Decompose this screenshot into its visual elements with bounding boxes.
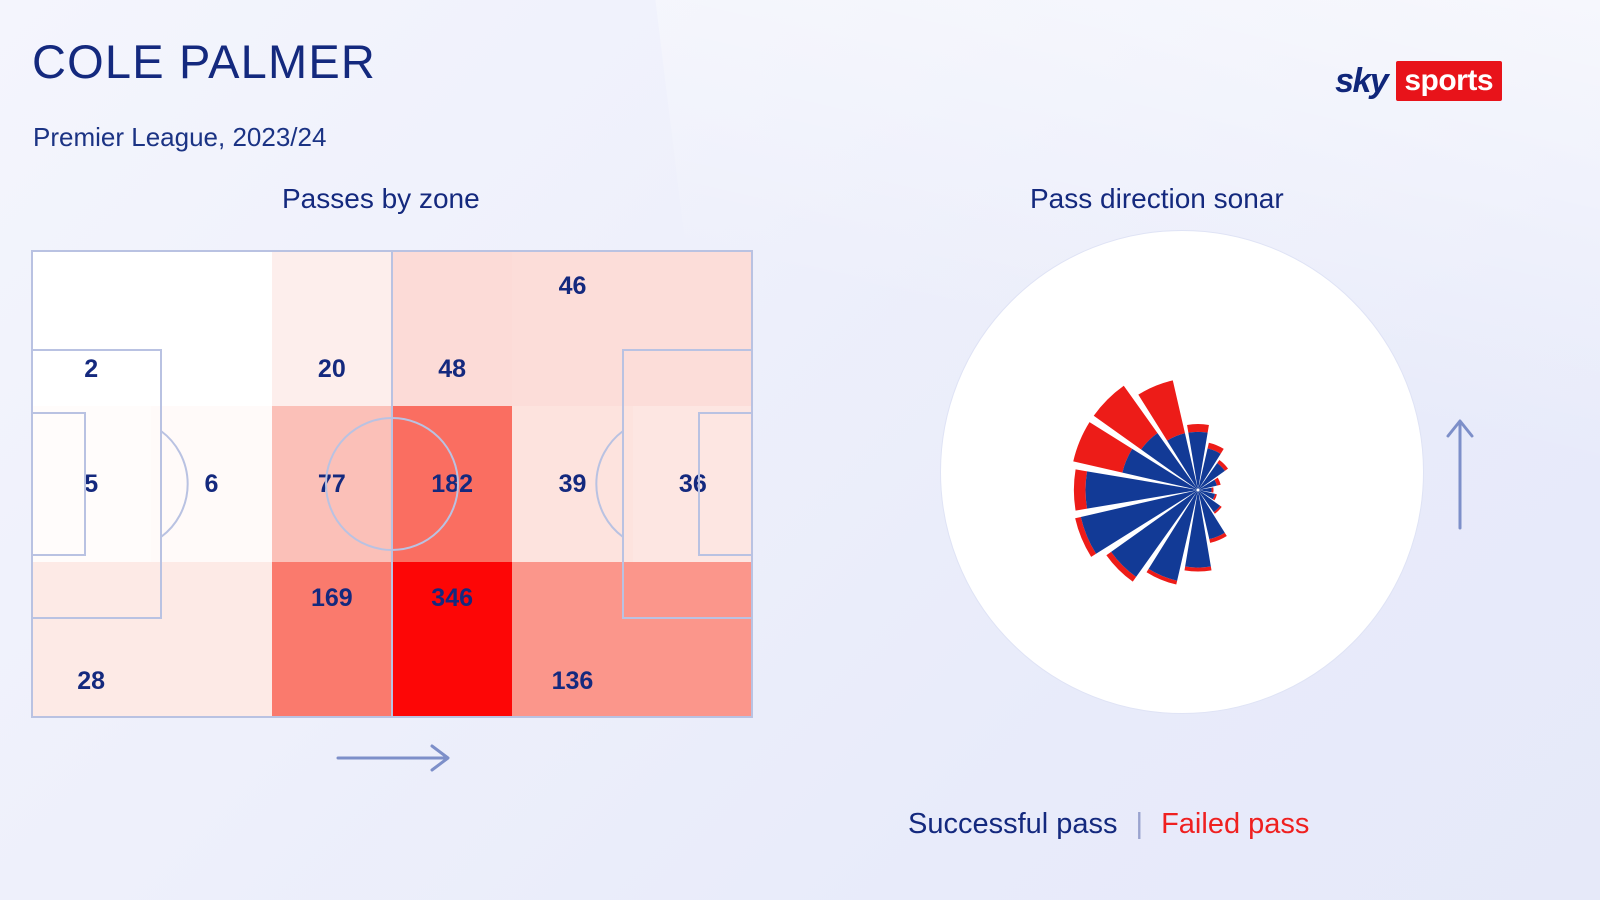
pass-direction-sonar	[940, 230, 1424, 714]
zone-value: 77	[318, 470, 346, 499]
zone-cell	[151, 250, 271, 406]
zone-cell: 39	[512, 406, 632, 562]
passes-by-zone-heatmap: 22048465677182393628169346136	[31, 250, 753, 718]
page-title: COLE PALMER	[32, 38, 376, 85]
zone-cell: 136	[512, 562, 632, 718]
zone-cell	[151, 562, 271, 718]
sonar-sector-failed	[1187, 424, 1209, 433]
sky-sports-logo: sky sports	[1335, 61, 1502, 101]
pass-direction-sonar-title: Pass direction sonar	[1030, 183, 1284, 215]
zone-value: 28	[77, 667, 105, 696]
zone-cell	[633, 250, 753, 406]
zone-value: 5	[84, 470, 98, 499]
zone-cell: 46	[512, 250, 632, 406]
zone-cell: 77	[272, 406, 392, 562]
zone-value: 48	[438, 355, 466, 384]
zone-value: 136	[552, 667, 594, 696]
page-subtitle: Premier League, 2023/24	[33, 122, 326, 153]
legend-failed-pass: Failed pass	[1161, 808, 1309, 841]
zone-cell: 2	[31, 250, 151, 406]
zone-cell: 48	[392, 250, 512, 406]
sports-badge: sports	[1396, 61, 1502, 101]
zone-grid: 22048465677182393628169346136	[31, 250, 753, 718]
zone-cell: 36	[633, 406, 753, 562]
zone-value: 2	[84, 355, 98, 384]
zone-value: 182	[431, 470, 473, 499]
sonar-legend: Successful pass | Failed pass	[908, 808, 1309, 841]
zone-cell: 5	[31, 406, 151, 562]
zone-cell: 28	[31, 562, 151, 718]
sonar-forward-arrow-icon	[1443, 418, 1477, 530]
zone-value: 20	[318, 355, 346, 384]
zone-value: 346	[431, 584, 473, 613]
legend-separator: |	[1136, 808, 1144, 841]
zone-cell: 6	[151, 406, 271, 562]
zone-cell: 182	[392, 406, 512, 562]
zone-value: 169	[311, 584, 353, 613]
zone-cell: 346	[392, 562, 512, 718]
attack-direction-arrow-icon	[336, 742, 456, 774]
sonar-sector-successful	[1185, 491, 1211, 567]
zone-value: 6	[205, 470, 219, 499]
zone-value: 39	[559, 470, 587, 499]
sky-wordmark: sky	[1335, 61, 1396, 101]
zone-cell: 20	[272, 250, 392, 406]
sonar-sector-successful	[1188, 432, 1207, 489]
zone-cell: 169	[272, 562, 392, 718]
zone-cell	[633, 562, 753, 718]
zone-value: 36	[679, 470, 707, 499]
legend-successful-pass: Successful pass	[908, 808, 1118, 841]
sonar-sector-failed	[1074, 469, 1087, 510]
passes-by-zone-title: Passes by zone	[282, 183, 480, 215]
zone-value: 46	[559, 272, 587, 301]
sonar-sector-failed	[1211, 487, 1213, 492]
sonar-sectors	[940, 230, 1424, 714]
